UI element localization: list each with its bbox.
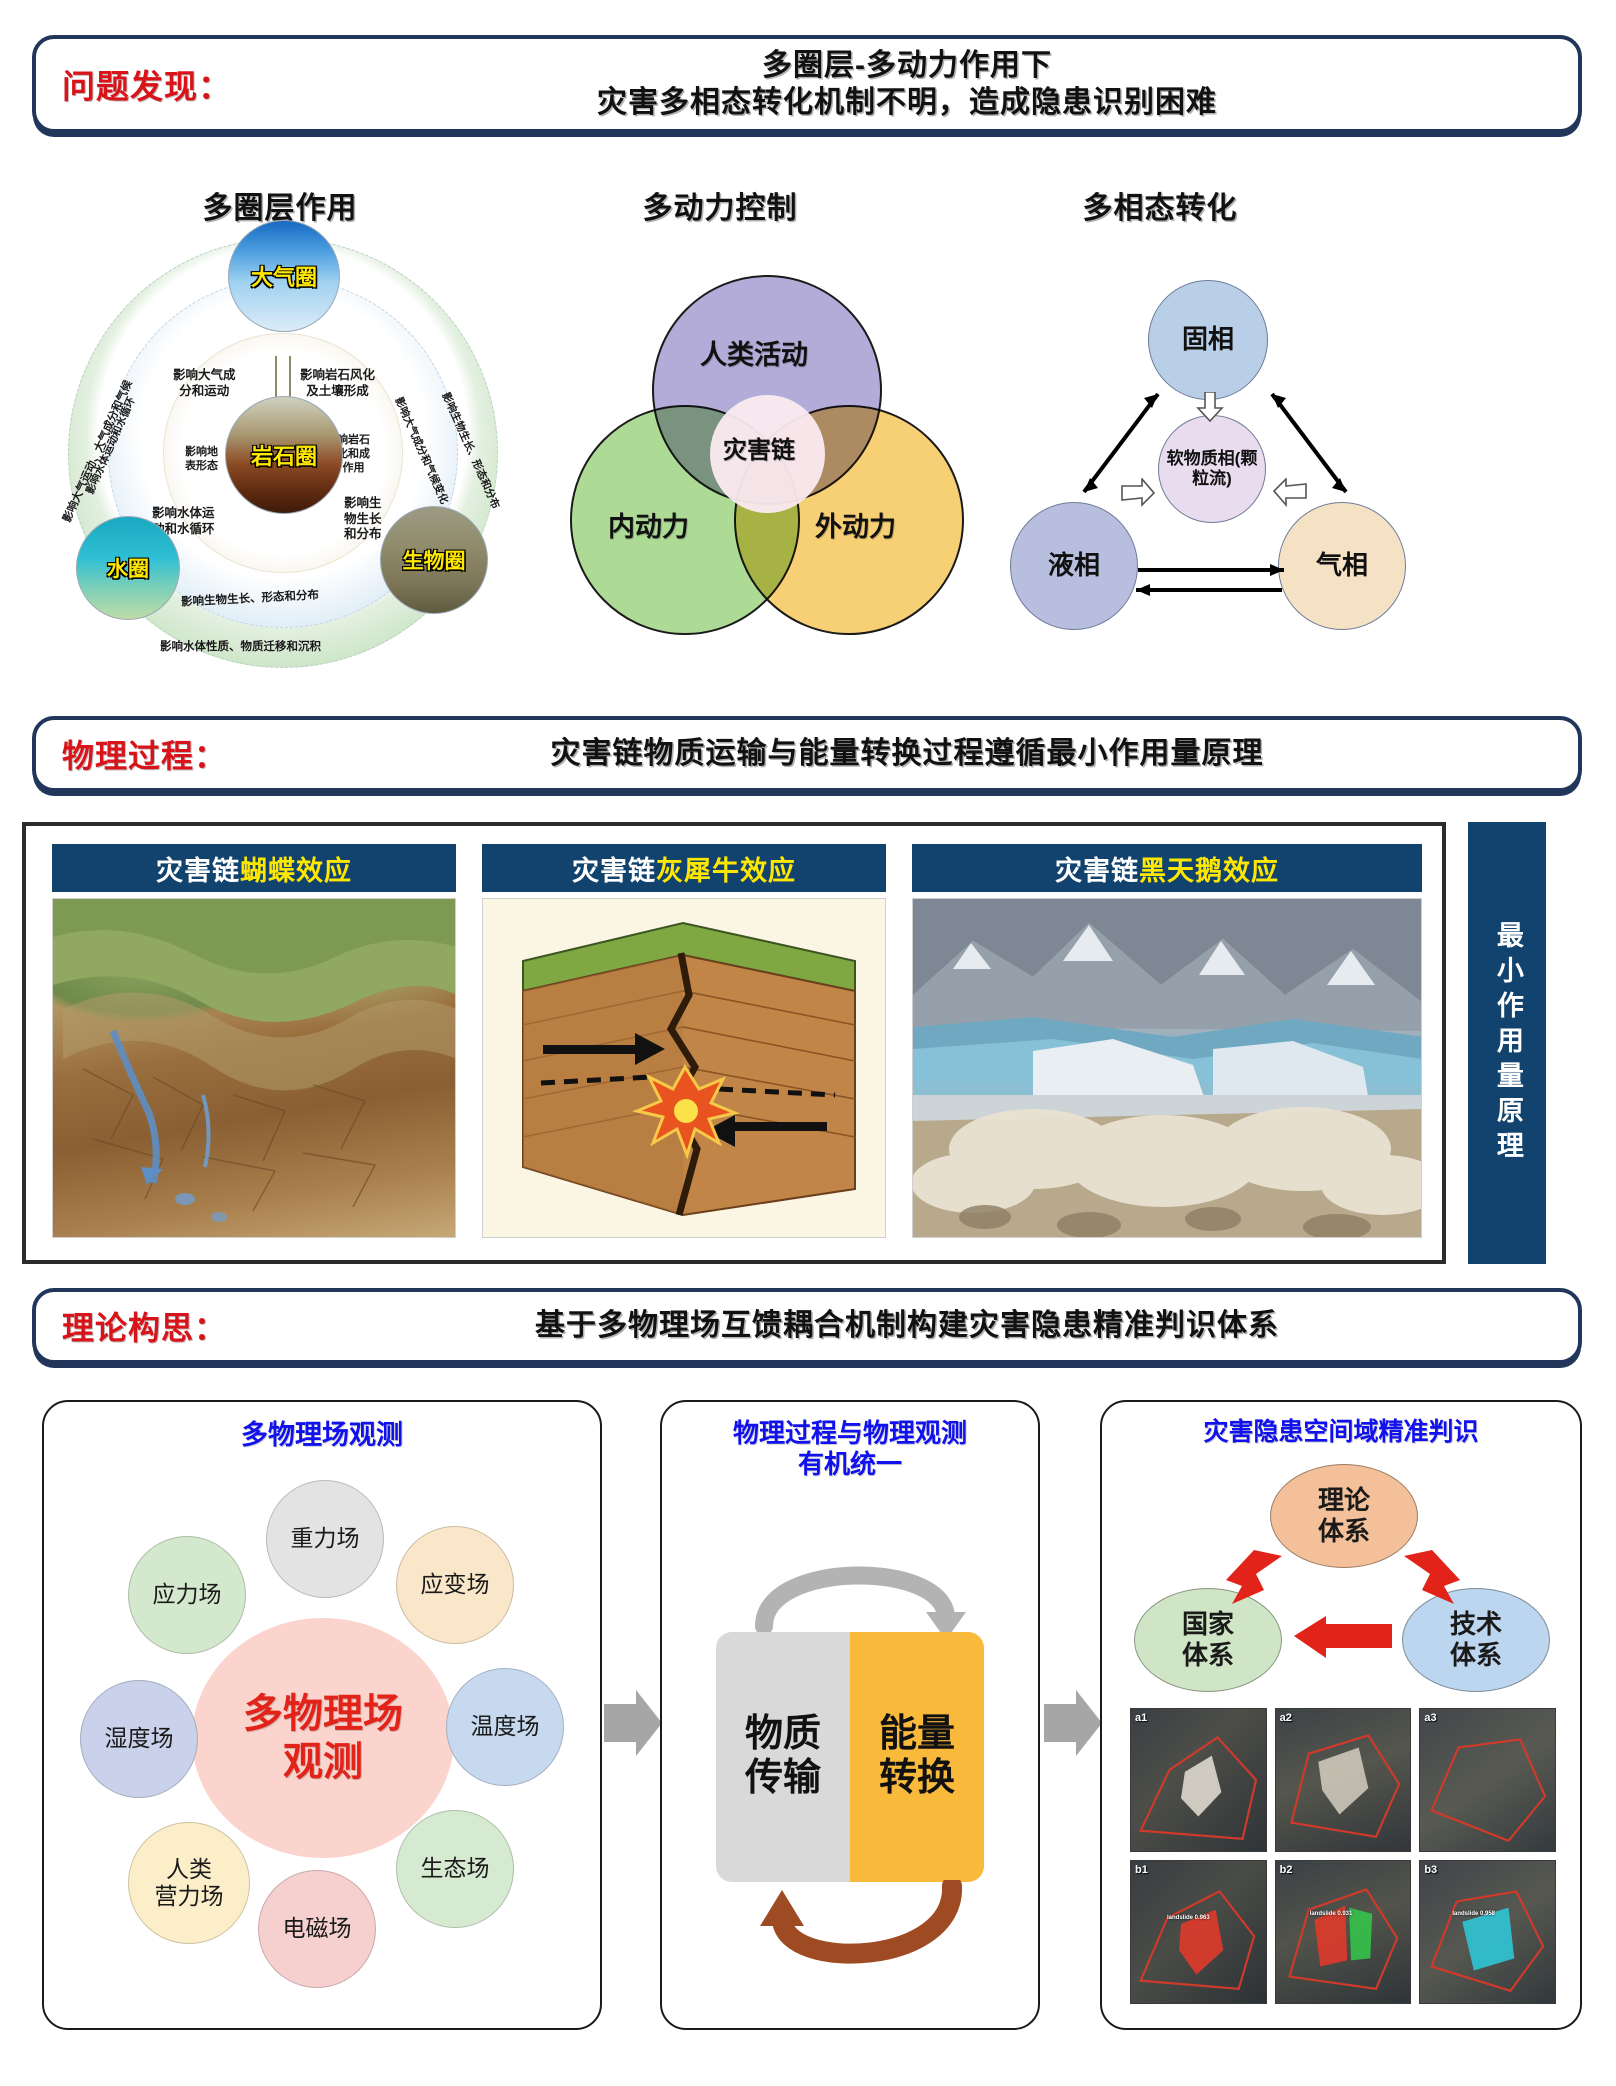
venn-label-human: 人类活动 [700,333,808,372]
satellite-tag-b2: b2 [1280,1864,1293,1876]
flow-arrow-observation-to-unification [604,1690,662,1756]
sphere-biosphere: 生物圈 [380,506,488,614]
black-arrow-liquid-gas [1128,558,1292,602]
field-bubble-human-force-label: 人类 营力场 [155,1856,224,1910]
material-transport-line-1: 物质 [745,1713,821,1757]
sphere-hydrosphere: 水圈 [76,516,180,620]
effect-highlight-swan: 黑天鹅效应 [1139,849,1279,888]
venn-label-external: 外动力 [815,505,896,544]
satellite-tag-a3: a3 [1424,1712,1436,1724]
sphere-biosphere-label: 生物圈 [403,545,466,575]
phase-node-liquid: 液相 [1010,502,1138,630]
field-bubble-human-force: 人类 营力场 [128,1822,250,1944]
theory-banner-tag: 理论构思： [62,1303,262,1349]
physical-banner-tag: 物理过程： [62,731,262,777]
field-bubble-gravity-label: 重力场 [291,1525,360,1552]
energy-conversion-line-1: 能量 [879,1713,955,1757]
system-node-theory: 理论 体系 [1270,1464,1418,1568]
field-bubble-stress-label: 应力场 [153,1581,222,1608]
field-bubble-temperature-label: 温度场 [471,1713,540,1740]
red-arrow-technology-to-country [1292,1614,1396,1658]
fault-block-illustration [483,899,886,1238]
effect-prefix-rhino: 灾害链 [572,849,656,888]
venn-label-center: 灾害链 [723,430,795,465]
effect-prefix-swan: 灾害链 [1055,849,1139,888]
field-bubble-humidity: 湿度场 [80,1680,198,1798]
column-title-phases: 多相态转化 [1010,183,1310,227]
effect-prefix-butterfly: 灾害链 [156,849,240,888]
field-bubble-strain-label: 应变场 [421,1571,490,1598]
satellite-subtag-b2: landslide 0.931 [1310,1911,1353,1917]
observation-center-line-2: 观测 [283,1738,363,1786]
phase-diagram: 固相 液相 气相 软物质相(颗粒流) [1010,280,1430,660]
field-bubble-ecology-label: 生态场 [421,1855,490,1882]
observation-panel: 多物理场观测 多物理场 观测 重力场 应变场 温度场 生态场 电磁场 人类 营力… [42,1400,602,2030]
field-bubble-stress: 应力场 [128,1536,246,1654]
problem-banner-text: 多圈层-多动力作用下 灾害多相态转化机制不明，造成隐患识别困难 [262,47,1552,122]
black-arrow-solid-liquid [1062,380,1172,510]
observation-center-line-1: 多物理场 [243,1690,403,1738]
black-arrow-solid-gas [1258,380,1368,510]
problem-line-2: 灾害多相态转化机制不明，造成隐患识别困难 [262,84,1552,122]
note-geo-form: 影响地表形态 [185,446,218,474]
effect-image-swan [912,898,1422,1238]
venn-diagram: 人类活动 内动力 外动力 灾害链 [570,275,960,645]
field-bubble-gravity: 重力场 [266,1480,384,1598]
glacier-flood-illustration [913,899,1422,1238]
brown-loop-arrow [752,1880,982,1990]
field-bubble-temperature: 温度场 [446,1668,564,1786]
sphere-lithosphere: 岩石圈 [225,396,343,514]
red-arrow-theory-to-technology [1402,1548,1468,1610]
energy-conversion-block: 能量 转换 [850,1632,984,1882]
material-transport-line-2: 传输 [745,1757,821,1801]
field-bubble-humidity-label: 湿度场 [105,1725,174,1752]
identification-panel: 灾害隐患空间域精准判识 理论 体系 技术 体系 国家 体系 a1 [1100,1400,1582,2030]
note-atmos-to-litho-right: 影响岩石风化及土壤形成 [300,368,375,399]
energy-conversion-line-2: 转换 [879,1757,955,1801]
unification-title-line-1: 物理过程与物理观测 [662,1418,1038,1449]
unification-panel: 物理过程与物理观测 有机统一 物质 传输 能量 转换 [660,1400,1040,2030]
effect-highlight-rhino: 灰犀牛效应 [656,849,796,888]
unification-title-line-2: 有机统一 [662,1449,1038,1480]
effect-highlight-butterfly: 蝴蝶效应 [240,849,352,888]
observation-center-bubble: 多物理场 观测 [192,1618,454,1858]
field-bubble-electromagnetic: 电磁场 [258,1870,376,1988]
satellite-cell-a2: a2 [1275,1708,1412,1852]
effect-image-rhino [482,898,886,1238]
effect-header-rhino: 灾害链灰犀牛效应 [482,844,886,892]
satellite-subtag-b1: landslide 0.963 [1167,1915,1210,1921]
spheres-diagram: 影响大气运动、大气成分和气候 影响水体运动和水循环 影响生物生长、形态和分布 影… [68,238,498,668]
satellite-cell-a3: a3 [1419,1708,1556,1852]
hollow-arrow-solid-to-soft [1195,392,1225,422]
system-node-country-label: 国家 体系 [1182,1609,1234,1670]
physical-banner-text: 灾害链物质运输与能量转换过程遵循最小作用量原理 [262,735,1552,773]
theory-banner: 理论构思： 基于多物理场互馈耦合机制构建灾害隐患精准判识体系 [32,1288,1582,1364]
satellite-image-grid: a1 a2 a3 b1 landslide 0.963 [1130,1708,1556,2004]
satellite-tag-b3: b3 [1424,1864,1437,1876]
sphere-lithosphere-label: 岩石圈 [251,439,317,471]
grey-loop-arrow [740,1542,970,1632]
flow-arrow-unification-to-identification [1044,1690,1102,1756]
problem-banner: 问题发现： 多圈层-多动力作用下 灾害多相态转化机制不明，造成隐患识别困难 [32,35,1582,133]
effect-image-butterfly [52,898,456,1238]
problem-line-1: 多圈层-多动力作用下 [262,47,1552,85]
satellite-tag-a1: a1 [1135,1712,1147,1724]
system-node-technology-label: 技术 体系 [1450,1609,1502,1670]
theory-banner-text: 基于多物理场互馈耦合机制构建灾害隐患精准判识体系 [262,1307,1552,1345]
note-bio: 影响生物生长和分布 [344,496,382,543]
venn-label-internal: 内动力 [608,505,689,544]
phase-node-soft-label: 软物质相(颗粒流) [1159,449,1265,490]
note-atmos-to-litho-left: 影响大气成分和运动 [173,368,236,399]
material-transport-block: 物质 传输 [716,1632,850,1882]
sphere-hydrosphere-label: 水圈 [107,553,149,583]
unification-panel-title: 物理过程与物理观测 有机统一 [662,1418,1038,1479]
effect-header-butterfly: 灾害链蝴蝶效应 [52,844,456,892]
satellite-tag-a2: a2 [1280,1712,1292,1724]
phase-node-gas: 气相 [1278,502,1406,630]
field-bubble-electromagnetic-label: 电磁场 [283,1915,352,1942]
satellite-cell-b3: b3 landslide 0.958 [1419,1860,1556,2004]
physical-banner: 物理过程： 灾害链物质运输与能量转换过程遵循最小作用量原理 [32,716,1582,792]
effect-header-swan: 灾害链黑天鹅效应 [912,844,1422,892]
satellite-cell-b2: b2 landslide 0.931 [1275,1860,1412,2004]
least-action-side-strip: 最小作用量原理 [1468,822,1546,1264]
satellite-cell-a1: a1 [1130,1708,1267,1852]
sphere-atmosphere: 大气圈 [228,220,340,332]
phase-node-soft: 软物质相(颗粒流) [1158,415,1266,523]
arc-label-outer-bottom: 影响水体性质、物质迁移和沉积 [160,638,321,654]
satellite-tag-b1: b1 [1135,1864,1148,1876]
least-action-side-strip-label: 最小作用量原理 [1491,921,1523,1166]
field-bubble-ecology: 生态场 [396,1810,514,1928]
field-bubble-strain: 应变场 [396,1526,514,1644]
red-arrow-country-to-theory [1218,1548,1284,1610]
butterfly-illustration [53,899,456,1238]
identification-panel-title: 灾害隐患空间域精准判识 [1102,1418,1580,1448]
system-node-theory-label: 理论 体系 [1318,1485,1370,1546]
effects-frame: 灾害链蝴蝶效应 灾害链灰犀牛效应 [22,822,1446,1264]
satellite-cell-b1: b1 landslide 0.963 [1130,1860,1267,2004]
sphere-atmosphere-label: 大气圈 [251,260,317,292]
observation-panel-title: 多物理场观测 [44,1420,600,1452]
satellite-subtag-b3: landslide 0.958 [1452,1911,1495,1917]
column-title-dynamics: 多动力控制 [570,183,870,227]
problem-banner-tag: 问题发现： [62,60,262,108]
